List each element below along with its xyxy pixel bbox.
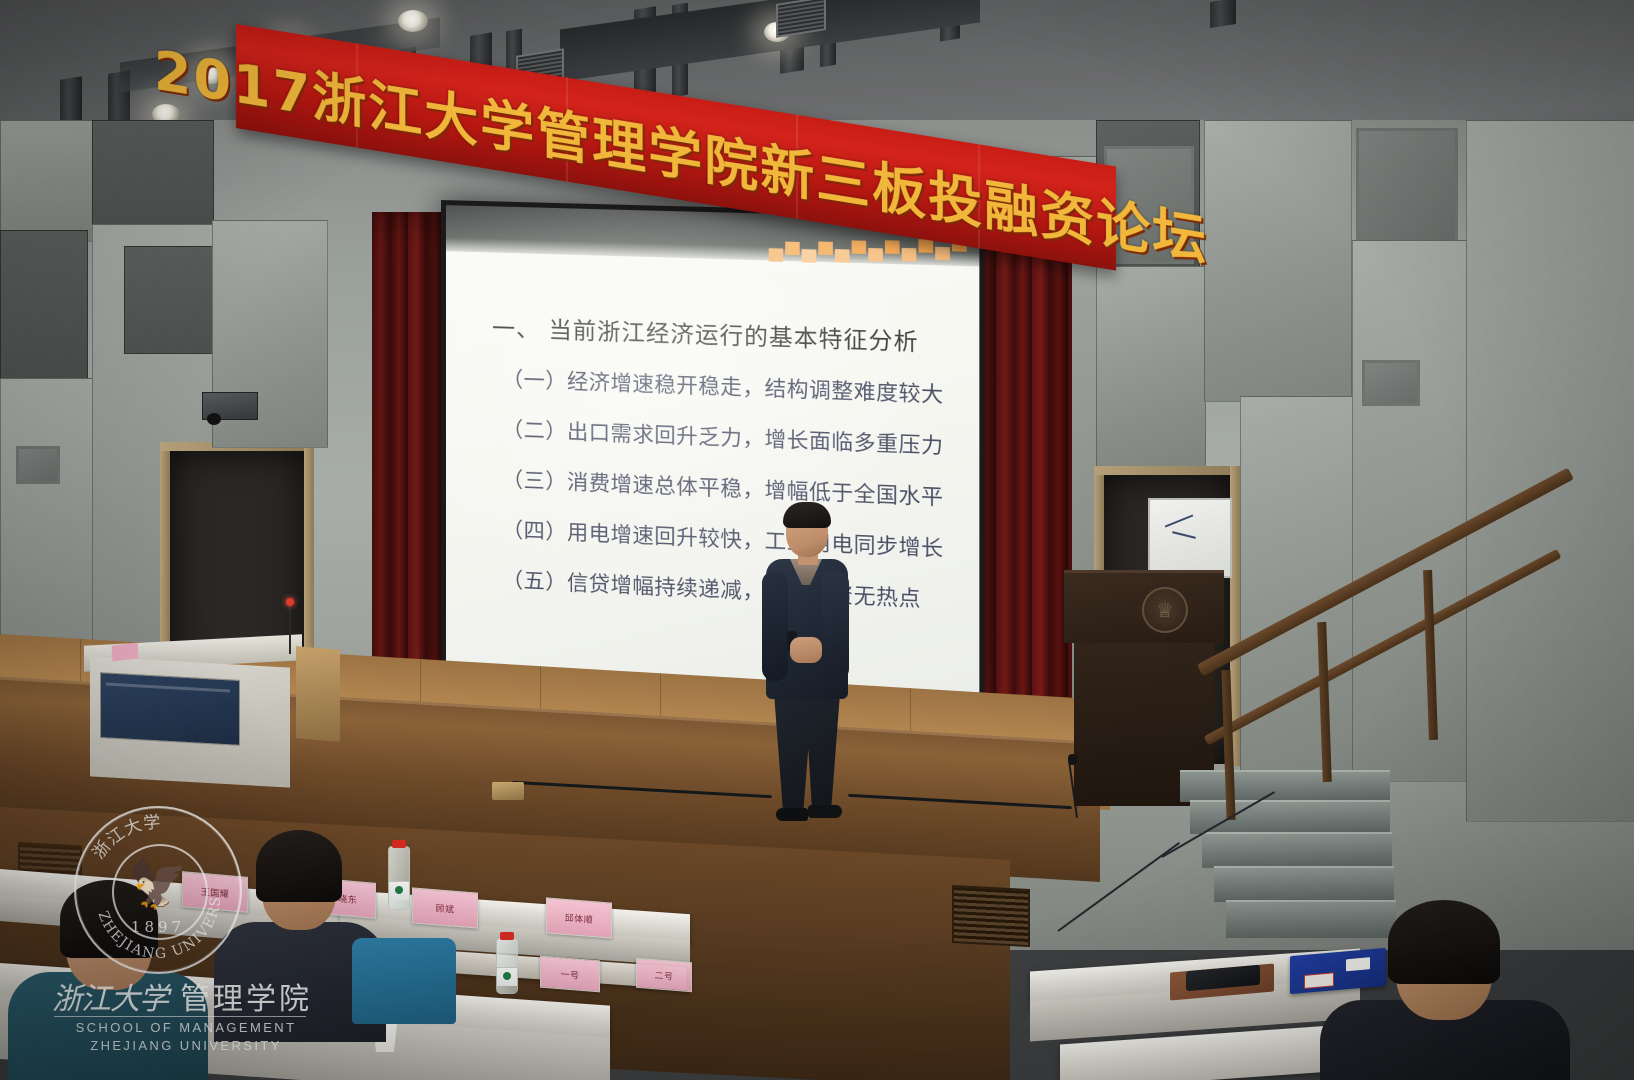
- wordmark-en-line1: SCHOOL OF MANAGEMENT: [52, 1020, 320, 1035]
- zju-wordmark: 浙江大学 管理学院: [52, 974, 320, 1018]
- placard-name: 一号: [560, 967, 579, 981]
- name-placard: 二号: [636, 958, 692, 992]
- mic-led-icon: [286, 598, 294, 606]
- university-seal-icon: ♕: [1142, 587, 1188, 633]
- desk-microphone: [286, 598, 294, 652]
- stage-vent-grille: [952, 885, 1030, 947]
- slide-bullet-2: （二）出口需求回升乏力，增长面临多重压力: [502, 413, 960, 461]
- seal-arc-text: 浙江大学 ZHEJIANG UNIVERSITY: [76, 808, 240, 972]
- wordmark-cn-script: 浙江大学: [52, 974, 168, 1018]
- floor-connector-box: [492, 782, 524, 800]
- slide-bullet-4: （四）用电增速回升较快，工业用电同步增长: [502, 514, 960, 564]
- wooden-podium: [296, 646, 340, 742]
- water-bottle: [496, 938, 518, 994]
- stage-curtain-left: [372, 212, 448, 722]
- slide-bullet-5: （五）信贷增幅持续递减，工业投资无热点: [502, 564, 960, 615]
- wordmark-divider: [54, 1016, 306, 1017]
- zju-seal-icon: 🦅 1897 浙江大学 ZHEJIANG UNIVERSITY: [74, 806, 242, 974]
- blue-chair: [352, 938, 456, 1024]
- placard-name: 顾斌: [435, 901, 454, 915]
- stair-railing: [1200, 560, 1620, 890]
- wall-speaker-box: [1362, 360, 1420, 406]
- audience-member: [1340, 900, 1550, 1080]
- presenter: [760, 505, 852, 825]
- wall-projector: [202, 392, 258, 420]
- name-placard: 顾斌: [412, 887, 478, 928]
- projector-lens-icon: [207, 413, 221, 425]
- downlight-icon: [398, 10, 428, 32]
- sticky-note: [112, 642, 139, 661]
- wall-panel: [16, 446, 60, 484]
- wall-panel: [1356, 128, 1458, 246]
- wordmark-en-line2: ZHEJIANG UNIVERSITY: [52, 1038, 320, 1053]
- svg-text:浙江大学: 浙江大学: [89, 813, 162, 864]
- lecture-hall-photo: 一、 当前浙江经济运行的基本特征分析 （一）经济增速稳开稳走，结构调整难度较大 …: [0, 0, 1634, 1080]
- av-console-cabinet: [84, 640, 302, 790]
- slide-bullet-3: （三）消费增速总体平稳，增幅低于全国水平: [502, 463, 960, 512]
- water-bottle: [388, 846, 410, 910]
- name-placard: 邱体顺: [546, 897, 612, 938]
- wordmark-cn-block: 管理学院: [180, 974, 312, 1018]
- floor-microphone: [1070, 760, 1076, 820]
- placard-name: 二号: [654, 968, 673, 982]
- placard-name: 邱体顺: [565, 910, 594, 925]
- name-placard: 一号: [540, 956, 600, 993]
- slide-bullet-1: （一）经济增速稳开稳走，结构调整难度较大: [502, 363, 960, 410]
- zju-watermark: 🦅 1897 浙江大学 ZHEJIANG UNIVERSITY 浙江大学 管理学…: [52, 806, 320, 1056]
